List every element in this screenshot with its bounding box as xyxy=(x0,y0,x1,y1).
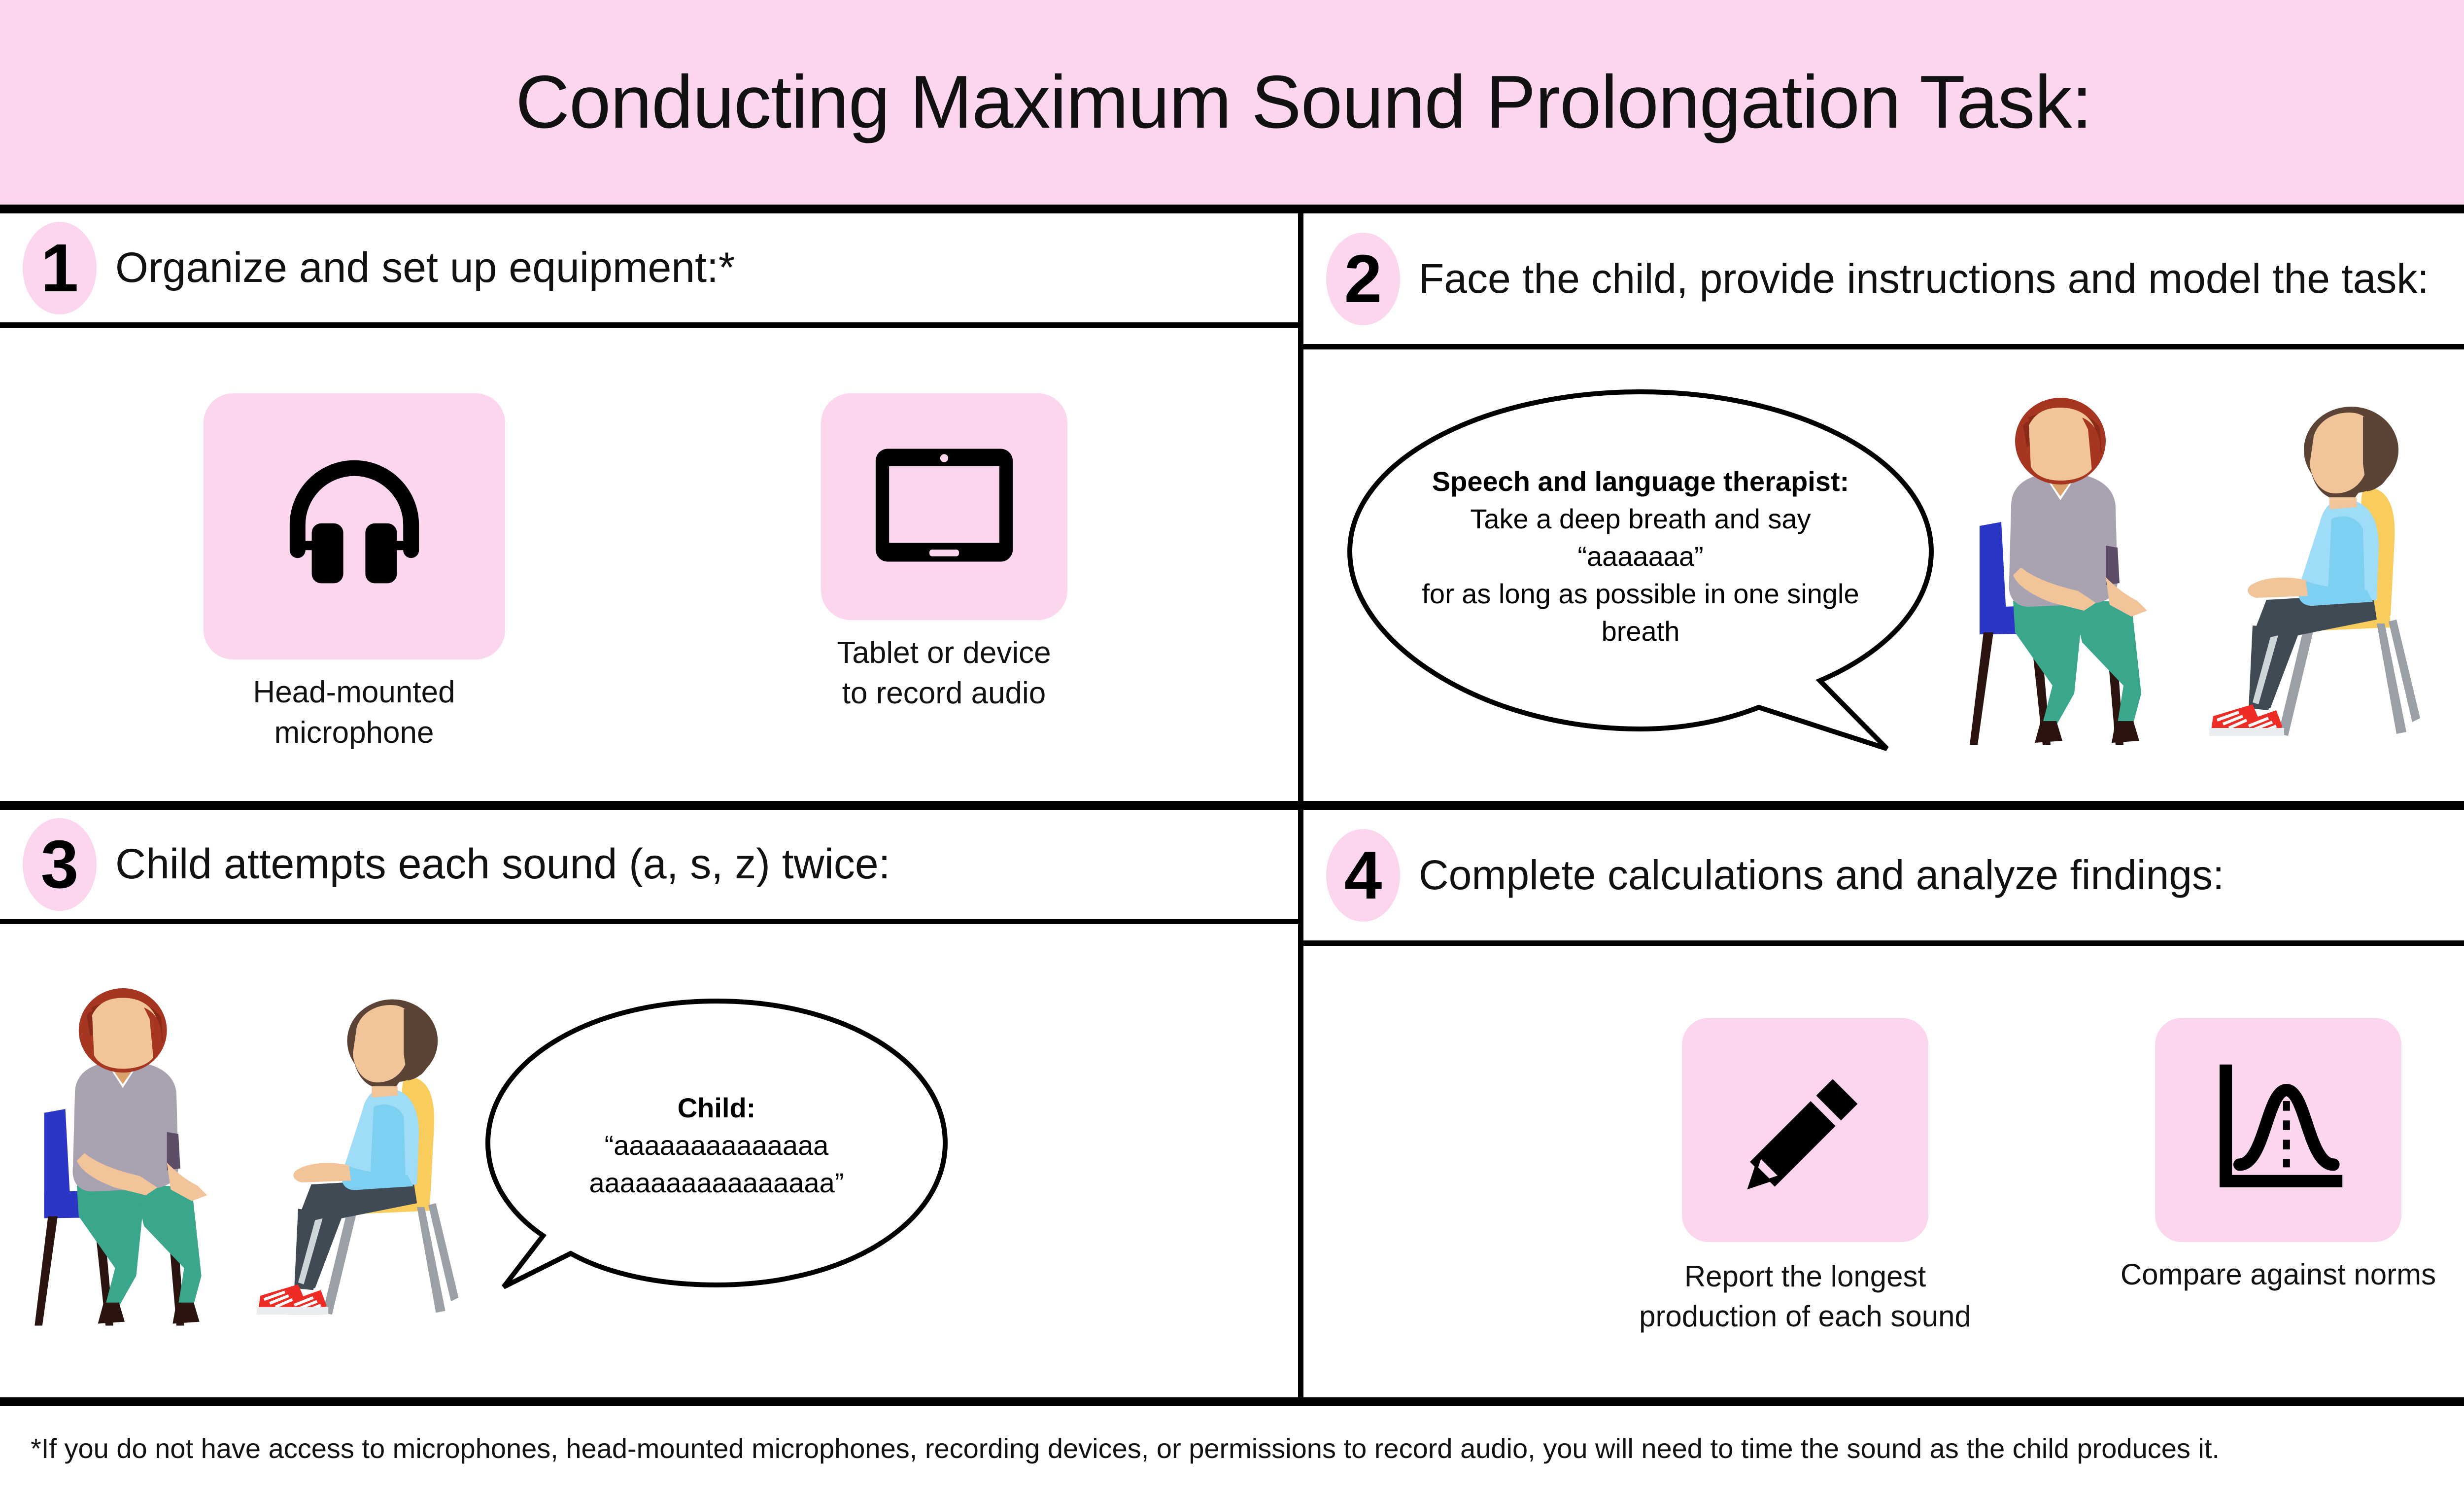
bell-curve-chart-icon-container xyxy=(2155,1018,2401,1242)
step-panel-3: 3 Child attempts each sound (a, s, z) tw… xyxy=(0,810,1303,1406)
bubble-line-2: for as long as possible in one single xyxy=(1422,575,1859,613)
output-tile-list: Report the longest production of each so… xyxy=(1303,1007,2464,1336)
step-1-title: Organize and set up equipment:* xyxy=(115,242,735,294)
step-3-body: Child: “aaaaaaaaaaaaaa aaaaaaaaaaaaaaaa” xyxy=(0,924,1298,1397)
therapist-figure xyxy=(23,988,230,1333)
step-1-number-badge: 1 xyxy=(23,222,97,314)
step-2-title: Face the child, provide instructions and… xyxy=(1419,253,2429,304)
bubble-line-3: breath xyxy=(1602,613,1680,650)
child-figure xyxy=(2193,403,2425,748)
bubble-speaker-therapist: Speech and language therapist: xyxy=(1432,463,1849,500)
pencil-icon-container xyxy=(1682,1018,1928,1242)
tablet-icon xyxy=(870,441,1018,572)
output-tile-norms: Compare against norms xyxy=(2076,1018,2464,1294)
bell-curve-chart-icon xyxy=(2207,1060,2350,1200)
step-panel-4: 4 Complete calculations and analyze find… xyxy=(1303,810,2464,1406)
step-2-body: Speech and language therapist: Take a de… xyxy=(1303,349,2464,801)
infographic-poster: Conducting Maximum Sound Prolongation Ta… xyxy=(0,0,2464,1490)
footnote: *If you do not have access to microphone… xyxy=(0,1406,2464,1490)
step-1-body: Head-mounted microphone xyxy=(0,328,1298,801)
step-panel-2: 2 Face the child, provide instructions a… xyxy=(1303,213,2464,810)
step-4-body: Report the longest production of each so… xyxy=(1303,946,2464,1397)
equipment-tile-tablet: Tablet or device to record audio xyxy=(767,393,1122,714)
step-1-header: 1 Organize and set up equipment:* xyxy=(0,213,1298,328)
equipment-label-headphones: Head-mounted microphone xyxy=(253,672,455,754)
steps-grid: 1 Organize and set up equipment:* xyxy=(0,213,2464,1406)
tablet-icon-container xyxy=(821,393,1067,620)
step-4-title: Complete calculations and analyze findin… xyxy=(1419,850,2224,900)
title-banner: Conducting Maximum Sound Prolongation Ta… xyxy=(0,0,2464,213)
bubble-speaker-child: Child: xyxy=(678,1089,756,1127)
step-2-number-badge: 2 xyxy=(1326,233,1400,325)
child-figure xyxy=(241,993,463,1328)
step-4-number-badge: 4 xyxy=(1326,829,1400,922)
therapist-figure xyxy=(1958,398,2170,753)
output-label-norms: Compare against norms xyxy=(2121,1255,2436,1294)
therapist-speech-bubble: Speech and language therapist: Take a de… xyxy=(1335,382,1946,757)
step-panel-1: 1 Organize and set up equipment:* xyxy=(0,213,1303,810)
bubble-line-1: Take a deep breath and say “aaaaaaa” xyxy=(1408,500,1873,575)
step-2-header: 2 Face the child, provide instructions a… xyxy=(1303,213,2464,349)
headphones-icon-container xyxy=(204,393,505,659)
equipment-tile-list: Head-mounted microphone xyxy=(0,376,1298,754)
bubble-line-1: “aaaaaaaaaaaaaa xyxy=(605,1127,829,1164)
child-speech-bubble: Child: “aaaaaaaaaaaaaa aaaaaaaaaaaaaaaa” xyxy=(480,993,953,1309)
output-label-report: Report the longest production of each so… xyxy=(1639,1257,1971,1336)
step-3-title: Child attempts each sound (a, s, z) twic… xyxy=(115,838,890,890)
step-3-number-badge: 3 xyxy=(23,818,97,911)
equipment-label-tablet: Tablet or device to record audio xyxy=(837,633,1051,714)
bubble-line-2: aaaaaaaaaaaaaaaa” xyxy=(589,1164,844,1202)
step-4-header: 4 Complete calculations and analyze find… xyxy=(1303,810,2464,946)
headphones-icon xyxy=(273,446,436,606)
step-3-header: 3 Child attempts each sound (a, s, z) tw… xyxy=(0,810,1298,924)
output-tile-report: Report the longest production of each so… xyxy=(1603,1018,2007,1336)
equipment-tile-headphones: Head-mounted microphone xyxy=(177,393,532,754)
page-title: Conducting Maximum Sound Prolongation Ta… xyxy=(515,63,2092,142)
pencil-icon xyxy=(1734,1060,1877,1200)
